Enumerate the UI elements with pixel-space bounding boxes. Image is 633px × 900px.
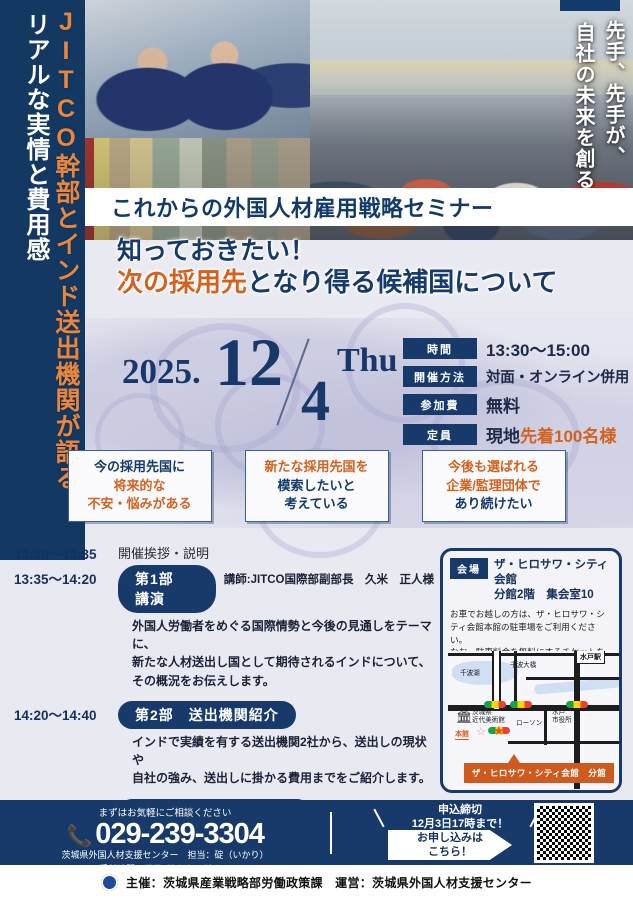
spec-row-time: 時間 13:30〜15:00 (403, 336, 618, 361)
schedule-description: インドで実績を有する送出機関2社から、送出しの現状や 自社の強み、送出しに掛かる… (132, 733, 434, 788)
contact-tel-text: 029-239-3304 (95, 818, 264, 850)
footer-text: 主催：茨城県産業戦略部労働政策課 運営：茨城県外国人材支援センター (126, 874, 532, 891)
map-label-lake: 千波湖 (460, 667, 480, 677)
seminar-title: これからの外国人材雇用戦略セミナー (111, 191, 494, 223)
map-venue-banner: ザ・ヒロサワ・シティ会館 分館 (464, 763, 614, 783)
reason-line: 企業/監理団体で (446, 477, 541, 496)
reason-box: 今後も選ばれる 企業/監理団体で あり続けたい (422, 450, 566, 522)
subtitle-line2: 次の採用先となり得る候補国について (117, 267, 633, 299)
hero-right-catch-line2: 自社の未来を創る (572, 22, 593, 190)
spec-key: 開催方法 (403, 366, 477, 387)
schedule-time: 13:30〜13:35 (14, 540, 118, 563)
event-date: 2025. 12 4 Thu (122, 332, 382, 432)
spec-value-highlight: 先着100名様 (520, 427, 616, 446)
flyer-page: 先手、先手が、 自社の未来を創る JITCO幹部とインド送出機関が語る、 リアル… (0, 0, 633, 900)
reason-line: 考えている (284, 495, 348, 514)
reason-box: 今の採用先国に 将来的な 不安・悩みがある (68, 450, 212, 522)
seminar-subtitle-block: 知っておきたい！ 次の採用先となり得る候補国について (85, 236, 633, 298)
map-label-station: 水戸駅 (576, 651, 605, 664)
apply-here-arrow[interactable]: お申し込みは こちら！ (388, 830, 512, 860)
schedule-label: 開催挨拶・説明 (118, 540, 209, 562)
map-road (508, 741, 620, 744)
spec-value: 13:30〜15:00 (486, 336, 590, 361)
spec-value: 現地先着100名様 (486, 422, 616, 447)
map-traffic-signal (566, 701, 588, 708)
venue-panel: 会場 ザ・ヒロサワ・シティ会館 分館2階 集会室10 お車でお越しの方は、ザ・ヒ… (440, 548, 622, 793)
contact-bar: まずはお気軽にご相談ください 📞029-239-3304 茨城県外国人材支援セン… (0, 800, 633, 865)
contact-divider (330, 812, 332, 854)
reason-line: 将来的な (113, 477, 165, 496)
target-audience-boxes: 今の採用先国に 将来的な 不安・悩みがある 新たな採用先国を 模索したいと 考え… (0, 450, 633, 528)
schedule-part-pill: 第2部 送出機関紹介 (118, 701, 296, 729)
map-road (544, 705, 547, 745)
footer-bar: 主催：茨城県産業戦略部労働政策課 運営：茨城県外国人材支援センター (0, 865, 633, 900)
venue-map: 千波湖 千波大橋 水戸駅 茨城県 近代美術館 ローソン 水戸 市役所 🏛 本館 … (448, 651, 620, 789)
decorative-slash (373, 809, 384, 828)
date-month: 12 (215, 328, 283, 396)
ibaraki-logo-icon (101, 874, 118, 891)
spec-key: 時間 (403, 338, 477, 359)
date-day: 4 (301, 372, 330, 430)
apply-line1: お申し込みは (388, 832, 512, 846)
schedule-lecturer: 講師:JITCO国際部副部長 久米 正人様 (224, 565, 434, 587)
venue-name-line1: ザ・ヒロサワ・シティ会館 (494, 558, 613, 588)
map-label-cityhall: 水戸 市役所 (552, 709, 572, 725)
spec-value-prefix: 現地 (486, 427, 520, 446)
contact-org: 茨城県外国人材支援センター 担当：碇（いかり） (0, 849, 330, 863)
contact-phone-block: まずはお気軽にご相談ください 📞029-239-3304 茨城県外国人材支援セン… (0, 800, 330, 865)
reason-line: 今の採用先国に (94, 458, 185, 477)
schedule-description: 外国人労働者をめぐる国際情勢と今後の見通しをテーマに、 新たな人材送出し国として… (132, 617, 434, 690)
event-spec-table: 時間 13:30〜15:00 開催方法 対面・オンライン併用 参加費 無料 定員… (403, 336, 618, 452)
spec-key: 参加費 (403, 394, 477, 415)
map-star-secondary-icon: ☆ (476, 725, 486, 738)
hero-corner-badge (560, 0, 620, 11)
subtitle-rest: となり得る候補国について (247, 267, 557, 297)
spec-value: 対面・オンライン併用 (486, 366, 629, 387)
schedule-row: 13:30〜13:35 開催挨拶・説明 (14, 540, 434, 563)
phone-icon: 📞 (66, 825, 91, 848)
date-day-of-week: Thu (337, 342, 398, 380)
reason-line: あり続けたい (454, 495, 532, 514)
spec-value: 無料 (486, 392, 520, 417)
map-traffic-signal (484, 701, 506, 708)
contact-phone-number[interactable]: 📞029-239-3304 (0, 819, 330, 849)
venue-name-line2: 分館2階 集会室10 (494, 588, 613, 603)
left-band-line2: リアルな実情と費用感 (22, 12, 47, 262)
map-label-bridge: 千波大橋 (510, 659, 536, 669)
spec-row-format: 開催方法 対面・オンライン併用 (403, 366, 618, 387)
seminar-title-bar: これからの外国人材雇用戦略セミナー (85, 188, 633, 226)
reason-line: 今後も選ばれる (448, 458, 539, 477)
reason-line: 不安・悩みがある (87, 495, 191, 514)
date-year: 2025. (122, 352, 201, 392)
schedule-row: 14:20〜14:40 第2部 送出機関紹介 (14, 701, 434, 729)
contact-kicker: まずはお気軽にご相談ください (0, 805, 330, 819)
map-star-venue-icon: ★ (493, 723, 505, 739)
map-traffic-signal (510, 701, 532, 708)
venue-name: ザ・ヒロサワ・シティ会館 分館2階 集会室10 (494, 558, 613, 603)
subtitle-highlight: 次の採用先 (117, 267, 247, 297)
schedule-part-pill: 第1部 講演 (118, 565, 216, 613)
schedule-time: 13:35〜14:20 (14, 565, 118, 588)
qr-code[interactable] (534, 803, 594, 863)
deadline-label: 申込締切 (390, 804, 530, 818)
application-block: 申込締切 12月3日17時まで！ お申し込みは こちら！ (338, 800, 633, 865)
reason-box: 新たな採用先国を 模索したいと 考えている (245, 450, 389, 522)
reason-line: 新たな採用先国を (264, 458, 368, 477)
deadline-text: 申込締切 12月3日17時まで！ (390, 804, 530, 832)
left-band-line1: JITCO幹部とインド送出機関が語る、 (53, 8, 79, 517)
deadline-value: 12月3日17時まで！ (390, 818, 530, 832)
map-road (526, 677, 620, 680)
spec-row-fee: 参加費 無料 (403, 392, 618, 417)
map-banner-pointer (508, 754, 520, 763)
map-label-lawson: ローソン (516, 717, 542, 727)
venue-header: 会場 ザ・ヒロサワ・シティ会館 分館2階 集会室10 (443, 551, 619, 605)
map-label-honkan: 本館 (455, 729, 469, 740)
spec-key: 定員 (403, 424, 477, 445)
reason-line: 模索したいと (277, 477, 355, 496)
schedule-time: 14:20〜14:40 (14, 701, 118, 724)
venue-tag: 会場 (450, 558, 488, 579)
subtitle-line1: 知っておきたい！ (117, 236, 633, 267)
spec-row-capacity: 定員 現地先着100名様 (403, 422, 618, 447)
photo-trainees (85, 0, 310, 138)
apply-line2: こちら！ (388, 846, 512, 860)
hero-right-catch-line1: 先手、先手が、 (602, 20, 623, 167)
schedule-row: 13:35〜14:20 第1部 講演 講師:JITCO国際部副部長 久米 正人様 (14, 565, 434, 613)
